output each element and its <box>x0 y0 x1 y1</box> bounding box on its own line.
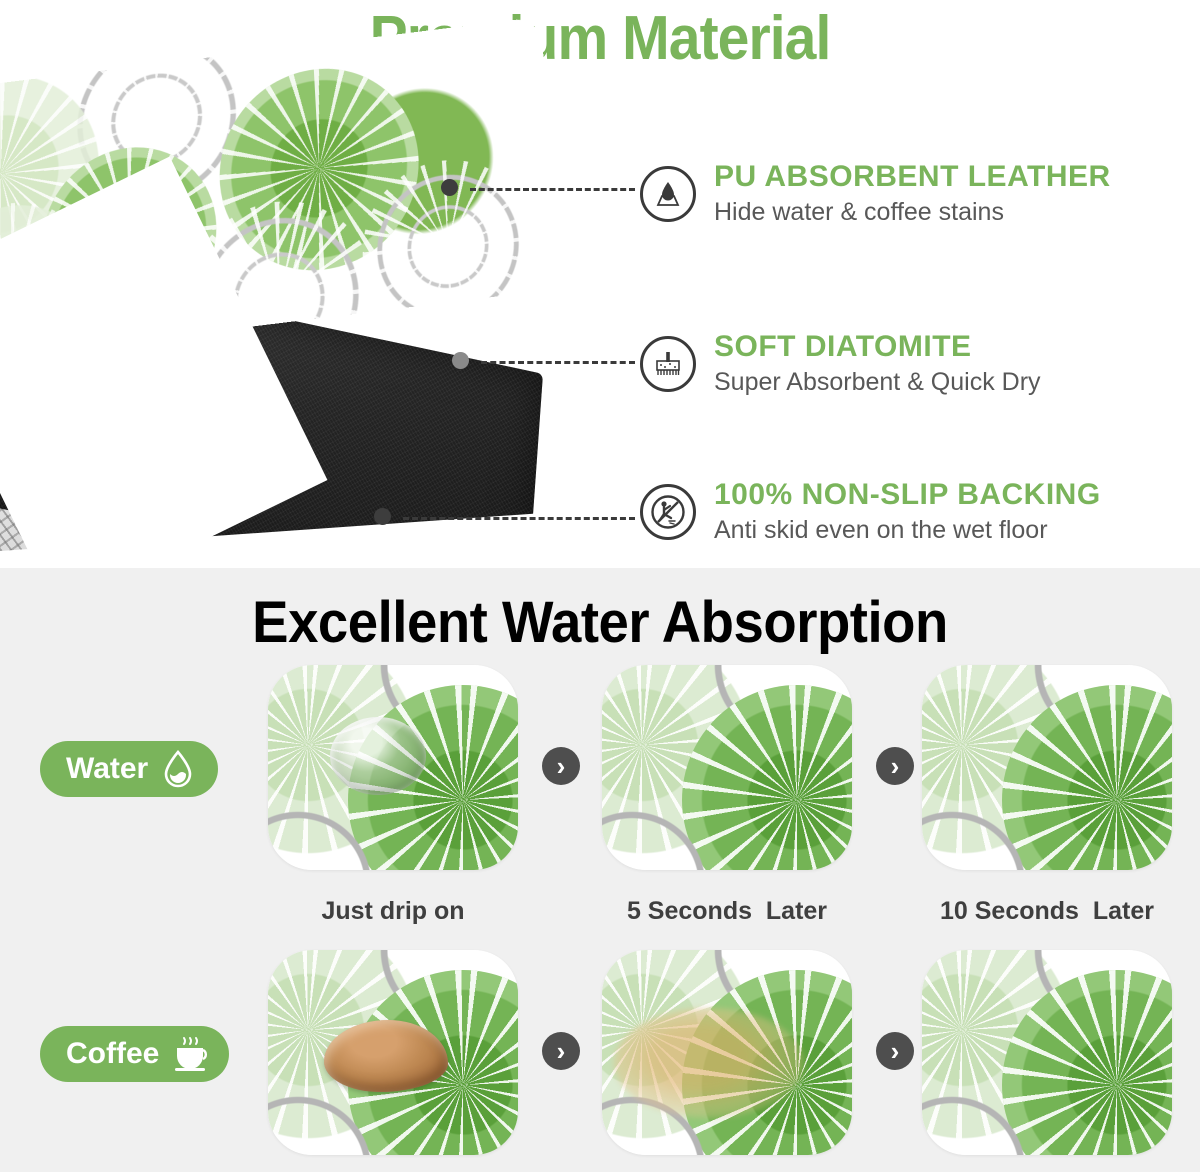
mat-surface-art <box>602 950 852 1155</box>
feature-non-slip-backing: 100% NON-SLIP BACKING Anti skid even on … <box>640 478 1101 546</box>
chevron-right-icon: › <box>891 753 900 779</box>
mat-surface-art <box>268 950 518 1155</box>
feature-soft-diatomite: SOFT DIATOMITE Super Absorbent & Quick D… <box>640 330 1041 398</box>
tile-caption: 10 Seconds Later <box>922 896 1172 926</box>
progress-arrow-icon: › <box>876 747 914 785</box>
water-droplet <box>330 717 426 795</box>
water-drop-icon <box>158 749 198 789</box>
premium-material-section: Premium Material PU ABSO <box>0 0 1200 568</box>
progress-arrow-icon: › <box>542 1032 580 1070</box>
feature-pu-absorbent-leather: PU ABSORBENT LEATHER Hide water & coffee… <box>640 160 1111 228</box>
water-absorption-section: Excellent Water Absorption Water › <box>0 568 1200 1172</box>
no-slipping-person-icon <box>640 484 696 540</box>
section-title: Excellent Water Absorption <box>36 590 1164 656</box>
water-drop-on-mat-icon <box>640 166 696 222</box>
badge-water: Water <box>40 741 218 797</box>
tile-water-5-seconds <box>602 665 852 870</box>
coffee-stain-faded <box>614 1008 804 1118</box>
product-layers-image <box>0 88 580 563</box>
badge-label: Water <box>66 752 148 786</box>
leader-line-diatomite <box>481 361 635 364</box>
tile-coffee-10-seconds <box>922 950 1172 1155</box>
feature-subtitle: Hide water & coffee stains <box>714 196 1111 228</box>
tile-coffee-just-drip <box>268 950 518 1155</box>
leader-dot-pu-leather <box>441 179 458 196</box>
progress-arrow-icon: › <box>876 1032 914 1070</box>
tile-caption: 5 Seconds Later <box>602 896 852 926</box>
leader-line-non-slip <box>403 517 635 520</box>
diatomite-brush-icon <box>640 336 696 392</box>
badge-label: Coffee <box>66 1037 159 1071</box>
chevron-right-icon: › <box>557 1038 566 1064</box>
progress-arrow-icon: › <box>542 747 580 785</box>
badge-coffee: Coffee <box>40 1026 229 1082</box>
feature-subtitle: Super Absorbent & Quick Dry <box>714 366 1041 398</box>
mat-surface-art <box>922 950 1172 1155</box>
leader-line-pu-leather <box>470 188 635 191</box>
coffee-cup-icon <box>169 1034 209 1074</box>
mat-surface-art <box>602 665 852 870</box>
leader-dot-non-slip <box>374 508 391 525</box>
feature-title: PU ABSORBENT LEATHER <box>714 160 1111 194</box>
feature-subtitle: Anti skid even on the wet floor <box>714 514 1101 546</box>
feature-title: SOFT DIATOMITE <box>714 330 1041 364</box>
chevron-right-icon: › <box>891 1038 900 1064</box>
tile-caption: Just drip on <box>268 896 518 926</box>
tile-water-10-seconds <box>922 665 1172 870</box>
tile-water-just-drip <box>268 665 518 870</box>
mat-surface-art <box>922 665 1172 870</box>
feature-title: 100% NON-SLIP BACKING <box>714 478 1101 512</box>
chevron-right-icon: › <box>557 753 566 779</box>
mat-surface-art <box>268 665 518 870</box>
tile-coffee-5-seconds <box>602 950 852 1155</box>
leader-dot-diatomite <box>452 352 469 369</box>
